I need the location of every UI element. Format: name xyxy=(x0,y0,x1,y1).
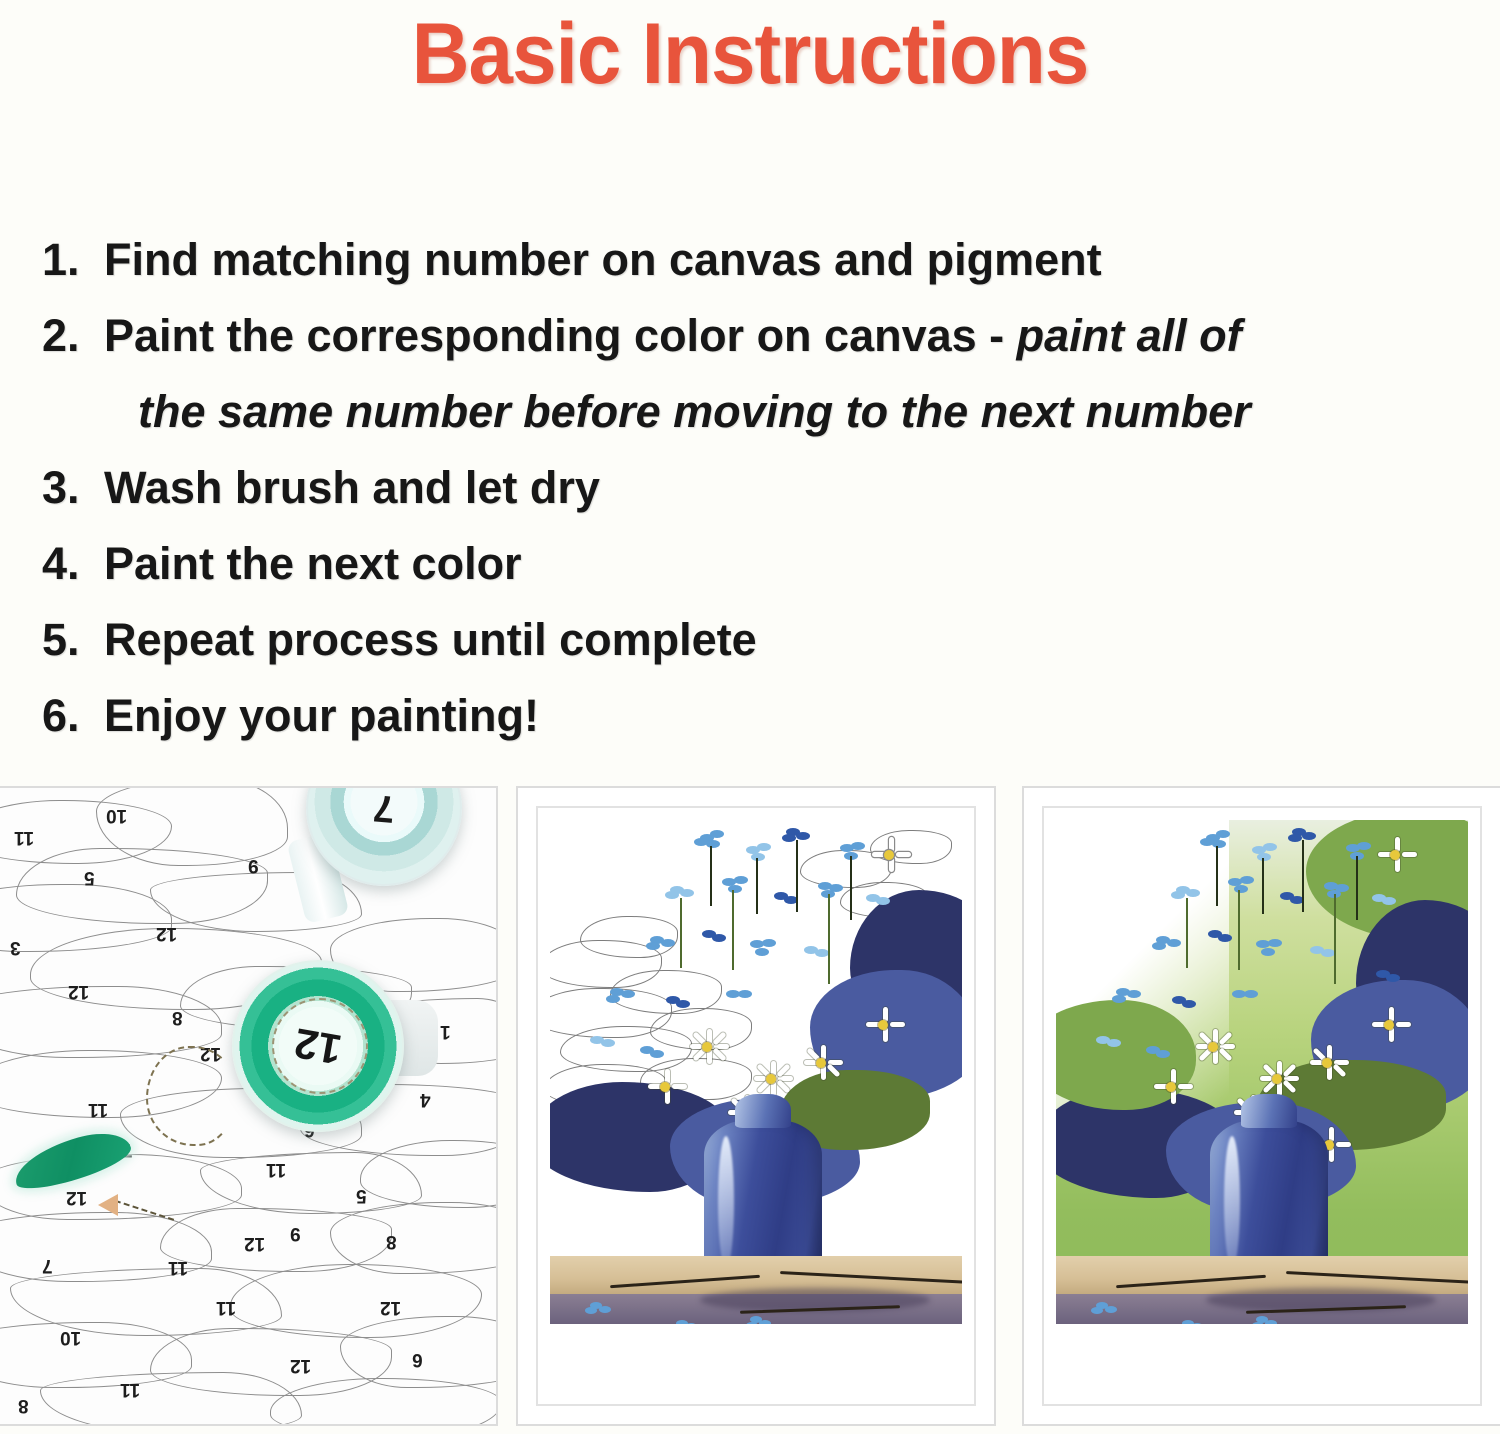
region-number: 11 xyxy=(88,1098,108,1120)
region-number: 12 xyxy=(156,922,177,944)
region-number: 4 xyxy=(420,1088,431,1110)
region-number: 8 xyxy=(386,1230,397,1252)
region-number: 9 xyxy=(248,854,259,876)
step-text: Find matching number on canvas and pigme… xyxy=(104,234,1102,285)
stem xyxy=(1238,890,1240,970)
region-number: 12 xyxy=(66,1186,87,1208)
outline-region xyxy=(40,1372,302,1426)
list-item: 2.Paint the corresponding color on canva… xyxy=(42,298,1462,374)
step-text: Paint the corresponding color on canvas … xyxy=(104,310,1017,361)
region-number: 1 xyxy=(440,1020,451,1042)
panel-completed-painting xyxy=(1022,786,1500,1426)
step-text: Enjoy your painting! xyxy=(104,690,539,741)
stem xyxy=(756,858,758,914)
region-number: 9 xyxy=(290,1222,301,1244)
stem xyxy=(1186,898,1188,968)
panel-partially-painted xyxy=(516,786,996,1426)
dashed-guide-loop xyxy=(146,1046,236,1146)
step-text: Paint the next color xyxy=(104,538,522,589)
region-number: 11 xyxy=(120,1378,140,1400)
outline-region xyxy=(870,830,952,864)
stem xyxy=(680,898,682,968)
stem xyxy=(1302,840,1304,912)
region-number: 10 xyxy=(60,1326,81,1348)
region-number: 8 xyxy=(18,1394,29,1416)
paint-pot-label: 7 xyxy=(302,786,467,890)
outline-region xyxy=(580,916,678,958)
canvas-bottom-margin xyxy=(550,1324,962,1364)
stem xyxy=(796,840,798,912)
vase-highlight xyxy=(718,1136,734,1268)
stem xyxy=(850,856,852,920)
canvas-mat xyxy=(536,806,976,1406)
paint-pot-label: 12 xyxy=(221,949,416,1144)
stem xyxy=(710,846,712,906)
region-number: 11 xyxy=(14,826,34,848)
stem xyxy=(1334,894,1336,984)
stem xyxy=(1262,858,1264,914)
vase-neck xyxy=(735,1094,791,1128)
region-number: 3 xyxy=(10,936,21,958)
instruction-sheet: Basic Instructions 1.Find matching numbe… xyxy=(0,0,1500,1434)
list-item: 4.Paint the next color xyxy=(42,526,1462,602)
step-text: Repeat process until complete xyxy=(104,614,757,665)
paint-pot-12: 12 xyxy=(232,960,404,1132)
list-item: 5.Repeat process until complete xyxy=(42,602,1462,678)
numbered-canvas-artwork: 11 10 5 9 3 12 8 12 12 11 12 6 11 5 7 11… xyxy=(0,788,496,1424)
region-number: 7 xyxy=(42,1254,53,1276)
page-title: Basic Instructions xyxy=(53,6,1448,102)
photo-strip: 11 10 5 9 3 12 8 12 12 11 12 6 11 5 7 11… xyxy=(0,786,1500,1430)
vase-highlight xyxy=(1224,1136,1240,1268)
paint-pot-7: 7 xyxy=(306,786,462,886)
region-number: 5 xyxy=(356,1184,367,1206)
canvas-mat xyxy=(1042,806,1482,1406)
stem xyxy=(1356,856,1358,920)
step-number: 5. xyxy=(42,602,104,678)
step-number: 4. xyxy=(42,526,104,602)
region-number: 6 xyxy=(412,1348,423,1370)
region-number: 12 xyxy=(68,980,89,1002)
stem xyxy=(1216,846,1218,906)
region-number: 5 xyxy=(84,866,95,888)
panel-numbered-canvas: 11 10 5 9 3 12 8 12 12 11 12 6 11 5 7 11… xyxy=(0,786,498,1426)
stem xyxy=(828,894,830,984)
list-item: 1.Find matching number on canvas and pig… xyxy=(42,222,1462,298)
step-number: 1. xyxy=(42,222,104,298)
region-number: 12 xyxy=(244,1232,265,1254)
region-number: 8 xyxy=(172,1006,183,1028)
step-text-continuation: the same number before moving to the nex… xyxy=(138,374,1462,450)
instruction-list: 1.Find matching number on canvas and pig… xyxy=(42,222,1462,754)
region-number: 11 xyxy=(266,1158,286,1180)
step-text-emphasis: paint all of xyxy=(1017,310,1242,361)
arrow-head-icon xyxy=(98,1194,118,1216)
partially-painted-artwork xyxy=(550,820,962,1364)
region-number: 12 xyxy=(380,1296,401,1318)
region-number: 11 xyxy=(168,1256,188,1278)
list-item: 6.Enjoy your painting! xyxy=(42,678,1462,754)
region-number: 10 xyxy=(106,804,127,826)
list-item: 3.Wash brush and let dry xyxy=(42,450,1462,526)
step-number: 6. xyxy=(42,678,104,754)
canvas-bottom-margin xyxy=(1056,1324,1468,1364)
step-number: 2. xyxy=(42,298,104,374)
region-number: 11 xyxy=(216,1296,236,1318)
vase-neck xyxy=(1241,1094,1297,1128)
stem xyxy=(732,890,734,970)
step-number: 3. xyxy=(42,450,104,526)
step-text: Wash brush and let dry xyxy=(104,462,600,513)
completed-artwork xyxy=(1056,820,1468,1364)
region-number: 12 xyxy=(290,1354,311,1376)
